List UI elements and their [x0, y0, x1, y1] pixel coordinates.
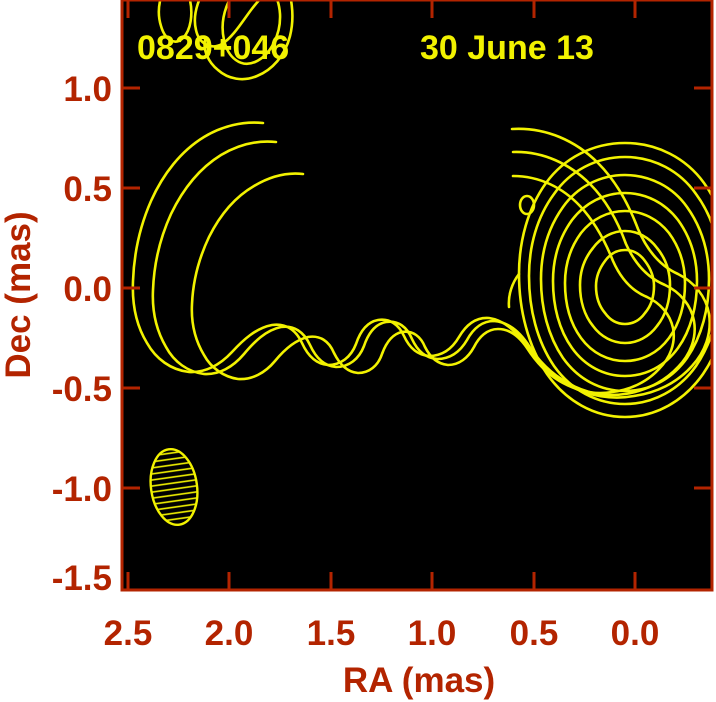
contour-map-svg: 0829+046 30 June 13: [0, 0, 716, 702]
x-tick-label-1: 2.0: [205, 614, 254, 653]
x-tick-label-5: 0.0: [611, 614, 660, 653]
y-tick-label-4: -1.0: [52, 470, 112, 509]
y-tick-label-1: 0.5: [63, 170, 112, 209]
y-tick-label-5: -1.5: [52, 559, 112, 598]
radio-contour-figure: 0829+046 30 June 13: [0, 0, 716, 702]
observation-date-label: 30 June 13: [420, 29, 594, 67]
x-tick-label-0: 2.5: [104, 614, 153, 653]
x-axis-title: RA (mas): [343, 661, 495, 700]
x-axis-tick-labels: 2.5 2.0 1.5 1.0 0.5 0.0: [104, 614, 660, 653]
y-axis-tick-labels: 1.0 0.5 0.0 -0.5 -1.0 -1.5: [52, 70, 112, 598]
plot-area-background: [122, 0, 712, 590]
y-axis-title: Dec (mas): [0, 211, 38, 378]
y-tick-label-3: -0.5: [52, 370, 112, 409]
x-tick-label-2: 1.5: [307, 614, 356, 653]
y-tick-label-0: 1.0: [63, 70, 112, 109]
y-tick-label-2: 0.0: [63, 270, 112, 309]
x-tick-label-4: 0.5: [510, 614, 559, 653]
source-name-label: 0829+046: [137, 29, 289, 67]
x-tick-label-3: 1.0: [408, 614, 457, 653]
